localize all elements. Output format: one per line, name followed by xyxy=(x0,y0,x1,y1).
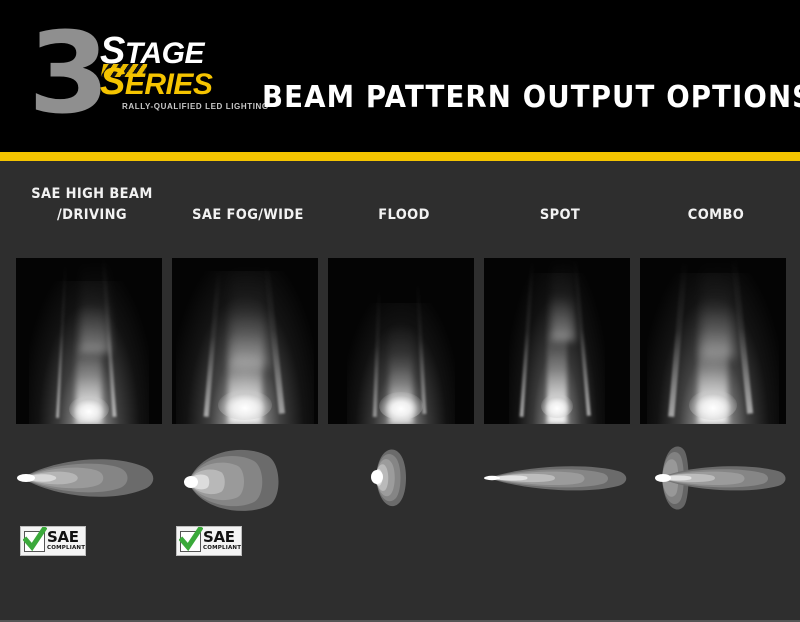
column-label: SAE HIGH BEAM /DRIVING xyxy=(21,184,162,226)
column-label-line2: /DRIVING xyxy=(21,205,162,226)
beam-pattern-infographic: 3 STAGE SERIES RALLY-QUALIFIED LED LIGHT… xyxy=(0,0,800,622)
column-label-line1: SPOT xyxy=(489,205,630,226)
sae-compliant-badge: SAE COMPLIANT xyxy=(176,526,242,556)
column-label: COMBO xyxy=(645,205,786,226)
beam-diagram-spot xyxy=(484,442,636,512)
check-icon xyxy=(180,531,201,552)
column-label-line1: SAE HIGH BEAM xyxy=(21,184,162,205)
beam-photo-sae-high-beam-driving xyxy=(16,258,162,424)
badge-subtitle: COMPLIANT xyxy=(47,546,85,552)
beam-photo-flood xyxy=(328,258,474,424)
column-label-line1: FLOOD xyxy=(333,205,474,226)
logo-tagline: RALLY-QUALIFIED LED LIGHTING xyxy=(122,102,269,111)
logo-wordmark: STAGE SERIES RALLY-QUALIFIED LED LIGHTIN… xyxy=(100,36,240,128)
beam-diagram-sae-high-beam-driving xyxy=(16,442,168,512)
logo-numeral: 3 xyxy=(28,22,106,126)
column-label: FLOOD xyxy=(333,205,474,226)
beam-photo-sae-fog-wide xyxy=(172,258,318,424)
brand-logo: 3 STAGE SERIES RALLY-QUALIFIED LED LIGHT… xyxy=(28,22,238,134)
beam-photo-spot xyxy=(484,258,630,424)
pattern-grid: SAE HIGH BEAM /DRIVING xyxy=(0,170,800,610)
badge-title: SAE xyxy=(47,530,85,545)
header-bar: 3 STAGE SERIES RALLY-QUALIFIED LED LIGHT… xyxy=(0,0,800,158)
column-label-line1: SAE FOG/WIDE xyxy=(177,205,318,226)
badge-title: SAE xyxy=(203,530,241,545)
logo-word-series: SERIES xyxy=(100,67,212,100)
column-label-line1: COMBO xyxy=(645,205,786,226)
beam-photo-combo xyxy=(640,258,786,424)
badge-subtitle: COMPLIANT xyxy=(203,546,241,552)
column-label: SAE FOG/WIDE xyxy=(177,205,318,226)
beam-diagram-combo xyxy=(640,442,792,512)
sae-compliant-badge: SAE COMPLIANT xyxy=(20,526,86,556)
check-icon xyxy=(24,531,45,552)
page-title: BEAM PATTERN OUTPUT OPTIONS xyxy=(262,80,800,115)
beam-diagram-sae-fog-wide xyxy=(172,442,324,512)
accent-divider xyxy=(0,152,800,161)
column-label: SPOT xyxy=(489,205,630,226)
beam-diagram-flood xyxy=(328,442,480,512)
